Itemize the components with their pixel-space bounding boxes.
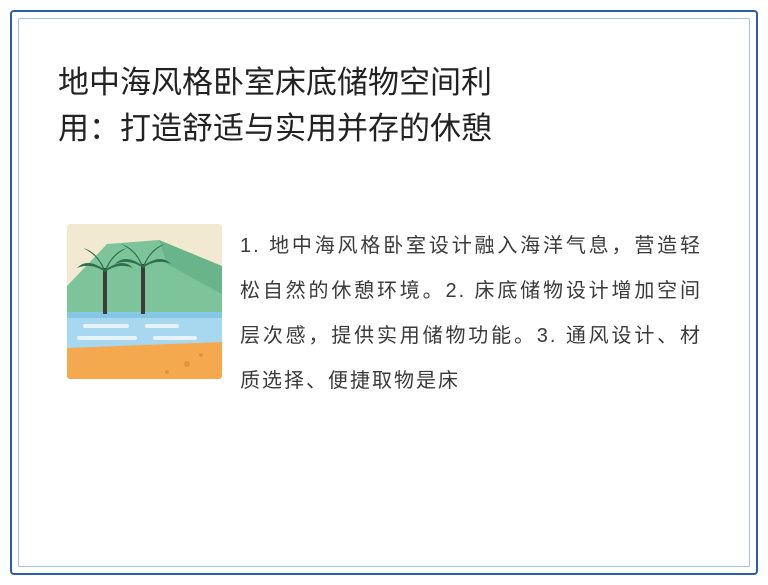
thumbnail-illustration bbox=[67, 224, 222, 379]
article-thumbnail bbox=[67, 224, 222, 379]
article-card: 地中海风格卧室床底储物空间利 用：打造舒适与实用并存的休憩 bbox=[10, 10, 758, 575]
page-title: 地中海风格卧室床底储物空间利 用：打造舒适与实用并存的休憩 bbox=[58, 60, 698, 152]
article-body: 1. 地中海风格卧室设计融入海洋气息，营造轻松自然的休憩环境。2. 床底储物设计… bbox=[240, 224, 702, 404]
